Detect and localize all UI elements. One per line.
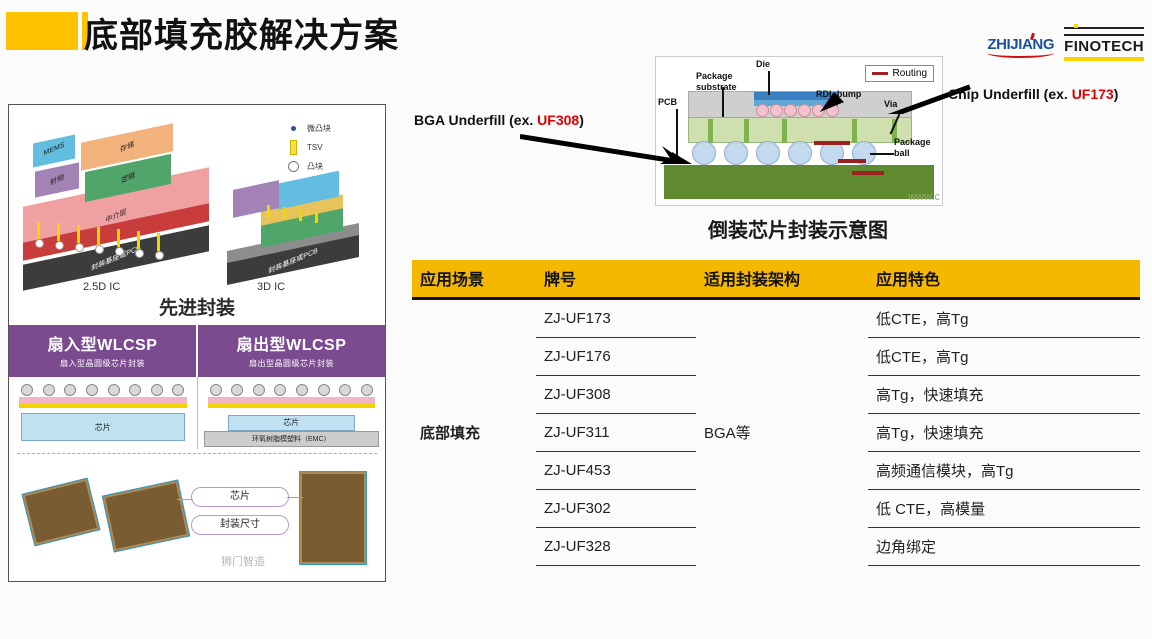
legend-label-tsv: TSV — [307, 143, 323, 152]
package-photo-c — [299, 471, 367, 565]
bump-icon — [115, 247, 124, 256]
chip-underfill-annotation: Chip Underfill (ex. UF173) — [948, 86, 1118, 102]
wlcsp-fan-out-diagram: 环氧树脂模塑料（EMC） 芯片 — [197, 377, 386, 449]
bump-icon — [135, 249, 144, 258]
package-substrate-layer — [688, 117, 912, 143]
chip-underfill-code: UF173 — [1072, 86, 1114, 102]
label-pcb: PCB — [658, 97, 677, 108]
solder-ball-icon — [172, 384, 184, 396]
rdl-bump-icon — [798, 104, 811, 117]
solder-ball-icon — [210, 384, 222, 396]
bga-underfill-annotation: BGA Underfill (ex. UF308) — [414, 112, 584, 128]
accent-block-icon — [6, 12, 78, 50]
flip-chip-caption: 倒装芯片封装示意图 — [655, 214, 941, 243]
legend-item-microbump: 微凸块 — [287, 119, 379, 138]
table-body: 底部填充ZJ-UF173BGA等低CTE，高TgZJ-UF176低CTE，高Tg… — [412, 299, 1140, 566]
legend-item-tsv: TSV — [287, 138, 379, 157]
label-die: Die — [756, 59, 770, 70]
rdl-layer — [19, 403, 187, 408]
rdl-bump-icon — [770, 104, 783, 117]
bump-icon — [155, 251, 164, 260]
finotech-logo-icon: FINOTECH — [1064, 24, 1144, 64]
microbump-icon — [287, 126, 299, 131]
solder-ball-icon — [86, 384, 98, 396]
bump-icon — [35, 239, 44, 248]
rdl-bump-icon — [784, 104, 797, 117]
callout-connector — [287, 497, 303, 498]
col-header-architecture: 适用封装架构 — [696, 260, 868, 299]
tsv-column-icon — [137, 231, 140, 249]
chip-underfill-prefix: Chip Underfill (ex. — [948, 86, 1072, 102]
callout-package-size: 封装尺寸 — [191, 515, 289, 535]
callout-connector — [177, 499, 193, 500]
bga-underfill-prefix: BGA Underfill (ex. — [414, 112, 537, 128]
solder-ball-icon — [296, 384, 308, 396]
tsv-column-icon — [57, 223, 60, 241]
solder-ball-icon — [274, 384, 286, 396]
chip-body: 芯片 — [21, 413, 185, 441]
cell-brand: ZJ-UF328 — [536, 528, 696, 566]
cell-brand: ZJ-UF176 — [536, 338, 696, 376]
rf-label: 射频 — [35, 166, 79, 195]
wlcsp-fan-in-subtitle: 扇入型晶圆级芯片封装 — [9, 358, 196, 369]
routing-trace — [838, 159, 866, 163]
cell-feature: 高Tg，快速填充 — [868, 414, 1140, 452]
tsv-column-icon — [315, 211, 318, 223]
bga-underfill-suffix: ) — [579, 112, 584, 128]
mems-label: MEMS — [33, 137, 75, 162]
tsv-column-icon — [283, 207, 286, 219]
mems-slab: MEMS — [33, 135, 75, 168]
tsv-column-icon — [157, 233, 160, 251]
solder-balls-row — [21, 384, 185, 396]
solder-ball-icon — [253, 384, 265, 396]
package-ball-icon — [756, 141, 780, 165]
rdl-bump-icon — [756, 104, 769, 117]
package-photo-a — [21, 478, 100, 547]
solder-ball-icon — [108, 384, 120, 396]
wlcsp-cross-sections: 芯片 环氧树脂模塑料（EMC） 芯片 — [9, 377, 385, 449]
legend-label-microbump: 微凸块 — [307, 123, 331, 134]
cell-brand: ZJ-UF302 — [536, 490, 696, 528]
package-ball-icon — [788, 141, 812, 165]
finotech-top-bars-icon — [1064, 27, 1144, 36]
solder-ball-icon — [43, 384, 55, 396]
via-icon — [852, 119, 857, 143]
label-package-substrate: Package substrate — [696, 71, 758, 93]
package-ball-icon — [724, 141, 748, 165]
label-2p5d-ic: 2.5D IC — [83, 281, 120, 293]
label-package-ball: Package ball — [894, 137, 942, 159]
cell-feature: 低CTE，高Tg — [868, 338, 1140, 376]
label-3d-ic: 3D IC — [257, 281, 285, 293]
bump-icon — [95, 245, 104, 254]
pointer-line-ball — [870, 153, 894, 155]
col-header-brand: 牌号 — [536, 260, 696, 299]
zhijiang-logo-icon: ZHIJIANG — [987, 36, 1054, 53]
wlcsp-fan-in-header: 扇入型WLCSP 扇入型晶圆级芯片封装 — [9, 325, 196, 377]
cell-brand: ZJ-UF308 — [536, 376, 696, 414]
packaging-legend: 微凸块 TSV 凸块 — [287, 119, 379, 176]
spec-table-element: 应用场景 牌号 适用封装架构 应用特色 底部填充ZJ-UF173BGA等低CTE… — [412, 260, 1140, 566]
pointer-line-substrate — [722, 87, 724, 117]
company-logo: ZHIJIANG FINOTECH — [987, 24, 1144, 64]
solder-ball-icon — [129, 384, 141, 396]
solder-ball-icon — [339, 384, 351, 396]
left-illustration-panel: 封装基座或PCB 中介层 逻辑 射频 存储 MEMS — [8, 104, 386, 582]
finotech-dot-icon — [1074, 24, 1078, 28]
solder-ball-icon — [151, 384, 163, 396]
bump-icon — [55, 241, 64, 250]
diagram-2p5d-ic: 封装基座或PCB 中介层 逻辑 射频 存储 MEMS — [23, 133, 223, 283]
tsv-column-icon — [117, 229, 120, 247]
diagram-3d-ic: 封装基座或PCB — [227, 163, 367, 283]
zhijiang-swoosh-icon — [987, 48, 1054, 58]
bga-underfill-arrow-icon — [520, 134, 692, 164]
tsv-icon — [287, 140, 299, 155]
package-photo-b — [102, 480, 190, 553]
product-spec-table: 应用场景 牌号 适用封装架构 应用特色 底部填充ZJ-UF173BGA等低CTE… — [412, 260, 1140, 566]
wlcsp-fan-in-diagram: 芯片 — [9, 377, 197, 449]
cell-scene: 底部填充 — [412, 299, 536, 566]
cell-brand: ZJ-UF453 — [536, 452, 696, 490]
wlcsp-fan-out-title: 扇出型WLCSP — [198, 331, 385, 355]
cell-brand: ZJ-UF311 — [536, 414, 696, 452]
legend-label-bump: 凸块 — [307, 161, 323, 172]
finotech-logo-text: FINOTECH — [1064, 38, 1144, 55]
table-head: 应用场景 牌号 适用封装架构 应用特色 — [412, 260, 1140, 299]
solder-ball-icon — [231, 384, 243, 396]
bump-icon — [75, 243, 84, 252]
tsv-column-icon — [37, 221, 40, 239]
image-watermark: 狮门智造 — [221, 553, 265, 569]
wlcsp-fan-out-subtitle: 扇出型晶圆级芯片封装 — [198, 358, 385, 369]
finotech-underline-icon — [1064, 57, 1144, 61]
emc-body: 环氧树脂模塑料（EMC） — [204, 431, 380, 447]
cell-feature: 边角绑定 — [868, 528, 1140, 566]
advanced-packaging-diagram: 封装基座或PCB 中介层 逻辑 射频 存储 MEMS — [9, 105, 385, 321]
cell-feature: 低CTE，高Tg — [868, 299, 1140, 338]
advanced-packaging-caption: 先进封装 — [9, 293, 385, 320]
page-title: 底部填充胶解决方案 — [84, 8, 399, 57]
table-row: 底部填充ZJ-UF173BGA等低CTE，高Tg — [412, 299, 1140, 338]
solder-ball-icon — [361, 384, 373, 396]
chip-body: 芯片 — [228, 415, 356, 431]
page-header: 底部填充胶解决方案 ZHIJIANG FINOTECH — [0, 0, 1152, 72]
diagram-watermark: www.c — [908, 191, 940, 203]
cell-feature: 高Tg，快速填充 — [868, 376, 1140, 414]
solder-balls-row — [210, 384, 374, 396]
table-header-row: 应用场景 牌号 适用封装架构 应用特色 — [412, 260, 1140, 299]
col-header-feature: 应用特色 — [868, 260, 1140, 299]
legend-item-bump: 凸块 — [287, 157, 379, 176]
emc-label: 环氧树脂模塑料（EMC） — [205, 434, 379, 444]
rdl-layer — [208, 403, 376, 408]
col-header-scene: 应用场景 — [412, 260, 536, 299]
via-icon — [744, 119, 749, 143]
chip-label: 芯片 — [22, 422, 184, 433]
callout-chip: 芯片 — [191, 487, 289, 507]
bump-icon — [287, 161, 299, 172]
tsv-column-icon — [77, 225, 80, 243]
via-icon — [708, 119, 713, 143]
routing-trace — [814, 141, 850, 145]
solder-ball-icon — [21, 384, 33, 396]
solder-ball-icon — [318, 384, 330, 396]
solder-ball-icon — [64, 384, 76, 396]
via-icon — [782, 119, 787, 143]
pointer-line-die — [768, 71, 770, 95]
wlcsp-fan-out-header: 扇出型WLCSP 扇出型晶圆级芯片封装 — [196, 325, 385, 377]
tsv-column-icon — [299, 209, 302, 221]
chip-underfill-suffix: ) — [1114, 86, 1119, 102]
rf-slab: 射频 — [35, 162, 79, 197]
cell-feature: 高频通信模块，高Tg — [868, 452, 1140, 490]
tsv-column-icon — [97, 227, 100, 245]
pcb-board — [664, 165, 934, 199]
section-divider — [17, 453, 377, 454]
cell-brand: ZJ-UF173 — [536, 299, 696, 338]
bga-underfill-code: UF308 — [537, 112, 579, 128]
chip-label: 芯片 — [229, 417, 355, 428]
wlcsp-fan-in-title: 扇入型WLCSP — [9, 331, 196, 355]
routing-trace — [852, 171, 884, 175]
tsv-column-icon — [267, 205, 270, 217]
package-photo-row: 芯片 封装尺寸 狮门智造 — [9, 457, 385, 581]
wlcsp-title-band: 扇入型WLCSP 扇入型晶圆级芯片封装 扇出型WLCSP 扇出型晶圆级芯片封装 — [9, 325, 385, 377]
cell-architecture: BGA等 — [696, 299, 868, 566]
package-ball-icon — [692, 141, 716, 165]
cell-feature: 低 CTE，高模量 — [868, 490, 1140, 528]
